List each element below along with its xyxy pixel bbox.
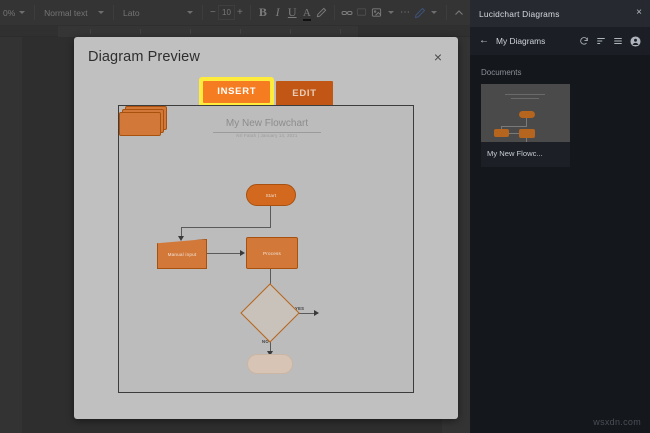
arrowhead-process [240,250,245,256]
list-item[interactable]: My New Flowc... [481,84,570,167]
edge-manual-process [207,253,241,254]
diagram-subtitle: Nrl Fatah | January 14, 2021 [119,133,414,138]
insert-button-highlight: INSERT [199,77,274,107]
document-name: My New Flowc... [481,142,570,167]
diagram-canvas[interactable]: My New Flowchart Nrl Fatah | January 14,… [118,105,414,393]
node-manual-label: Manual input [168,252,197,257]
modal-action-buttons: INSERT EDIT [74,77,458,107]
panel-title: Lucidchart Diagrams [479,9,560,19]
panel-close-icon[interactable]: × [636,8,642,18]
node-manual-input[interactable]: Manual input [157,239,207,269]
node-process-label: Process [263,251,281,256]
node-decision[interactable] [240,283,299,342]
panel-titlebar: Lucidchart Diagrams × [470,0,650,27]
breadcrumb[interactable]: My Diagrams [496,36,572,46]
sort-icon[interactable] [596,36,606,46]
node-multi-document[interactable] [119,106,167,136]
node-start[interactable]: Start [246,184,296,206]
arrowhead-docs [314,310,319,316]
page-title: Diagram Preview [88,49,200,65]
node-start-label: Start [266,193,277,198]
documents-section-label: Documents [470,55,650,84]
back-arrow-icon[interactable]: ← [479,36,489,46]
watermark: wsxdn.com [593,417,641,427]
diagram-preview-modal: Diagram Preview × INSERT EDIT My New Flo… [74,37,458,419]
refresh-icon[interactable] [579,36,589,46]
lucidchart-panel: Lucidchart Diagrams × ← My Diagrams [470,0,650,433]
account-icon[interactable] [630,36,641,47]
screen: 0% Normal text Lato − 10 + B I U A [0,0,650,433]
edit-button[interactable]: EDIT [276,81,332,107]
node-process[interactable]: Process [246,237,298,269]
edge-start-down [270,206,271,228]
node-end[interactable] [247,354,293,374]
arrowhead-manual [178,236,184,241]
edge-start-left [181,227,271,228]
close-icon[interactable]: × [430,49,446,65]
insert-button[interactable]: INSERT [203,81,270,103]
panel-nav: ← My Diagrams [470,27,650,55]
list-icon[interactable] [613,36,623,46]
document-thumbnail [481,84,570,142]
